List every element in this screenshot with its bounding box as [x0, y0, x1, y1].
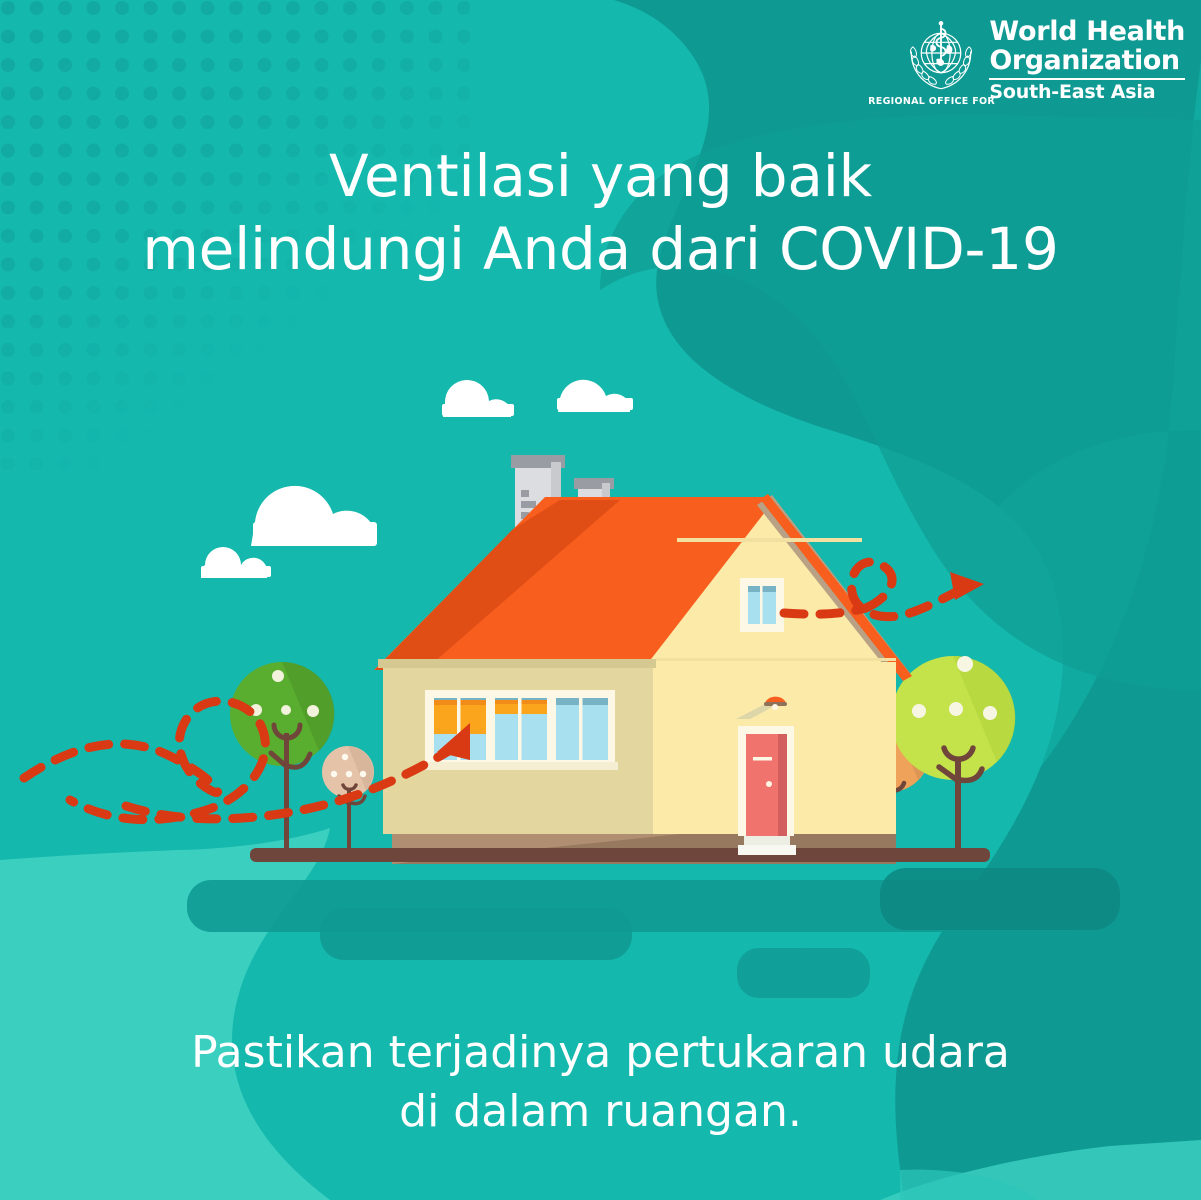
who-line1: World Health: [989, 18, 1185, 45]
who-logo: World Health Organization South-East Asi…: [903, 18, 1185, 102]
poster-canvas: Ventilasi yang baik melindungi Anda dari…: [0, 0, 1201, 1200]
gable-seam: [656, 658, 896, 661]
attic-seam: [677, 538, 862, 542]
front-door: [738, 726, 794, 836]
who-region: South-East Asia: [989, 83, 1155, 102]
eave-left: [378, 659, 656, 668]
window-sill: [422, 762, 618, 770]
who-divider: [989, 78, 1185, 80]
airflow-arrowhead-outbound: [950, 572, 984, 600]
page-title: Ventilasi yang baik melindungi Anda dari…: [0, 140, 1201, 286]
who-emblem-icon: [903, 18, 979, 94]
page-subtitle: Pastikan terjadinya pertukaran udara di …: [0, 1024, 1201, 1141]
window-3: [556, 698, 608, 760]
window-2: [495, 698, 547, 760]
who-line2: Organization: [989, 47, 1185, 74]
who-wordmark: World Health Organization South-East Asi…: [989, 18, 1185, 102]
attic-window: [740, 578, 784, 632]
ground-bar: [250, 848, 990, 862]
tree-right-lime: [891, 656, 1015, 848]
who-regional-prefix: REGIONAL OFFICE FOR: [868, 96, 995, 107]
door-steps: [738, 836, 796, 855]
